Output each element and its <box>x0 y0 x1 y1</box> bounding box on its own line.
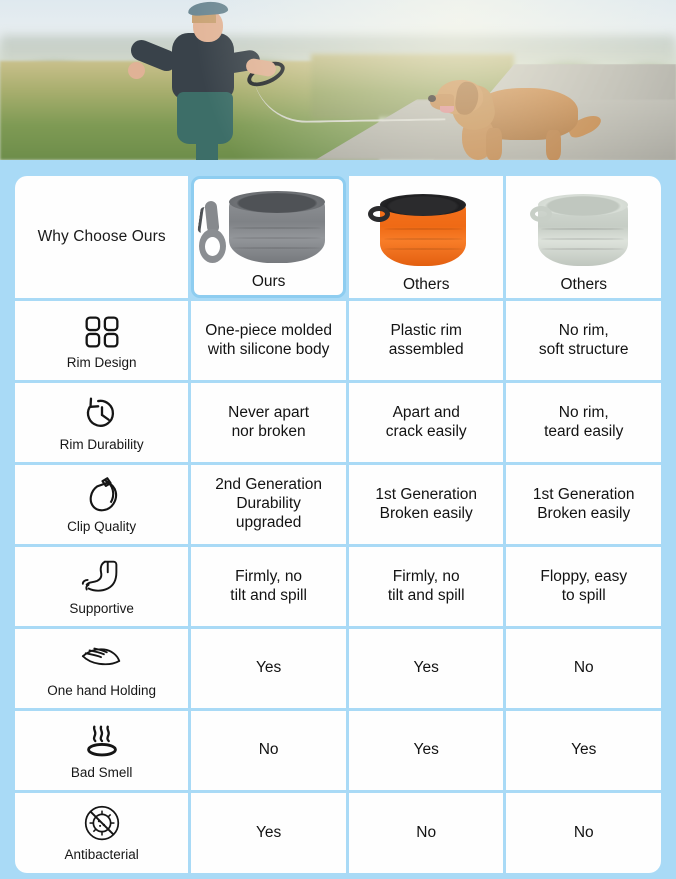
table-header-row: Why Choose Ours <box>15 176 661 298</box>
value-text: Yes <box>194 824 343 843</box>
feature-label: One hand Holding <box>47 683 156 698</box>
value-text: No rim,soft structure <box>509 322 658 360</box>
value-ours: No <box>191 711 346 790</box>
feature-label: Rim Design <box>67 355 137 370</box>
value-text: Plastic rimassembled <box>352 322 501 360</box>
value-other-2: Yes <box>506 711 661 790</box>
value-text: 2nd GenerationDurabilityupgraded <box>194 476 343 533</box>
orange-collapsible-bowl-icon <box>360 194 492 274</box>
bowl-grey <box>229 197 325 263</box>
value-other-2: Floppy, easyto spill <box>506 547 661 626</box>
value-text: Yes <box>352 741 501 760</box>
header-column-other-2: Others <box>506 176 661 298</box>
value-other-1: Firmly, notilt and spill <box>349 547 504 626</box>
white-collapsible-bowl-icon <box>518 194 650 274</box>
feature-cell-supportive: Supportive <box>15 547 188 626</box>
value-ours: One-piece moldedwith silicone body <box>191 301 346 380</box>
clock-history-icon <box>79 394 125 434</box>
value-other-2: No rim,soft structure <box>506 301 661 380</box>
feature-label: Rim Durability <box>60 437 144 452</box>
dog-front-leg <box>486 128 502 160</box>
value-text: Apart andcrack easily <box>352 404 501 442</box>
table-row: Clip Quality 2nd GenerationDurabilityupg… <box>15 465 661 544</box>
value-other-1: Yes <box>349 629 504 708</box>
value-text: 1st GenerationBroken easily <box>509 486 658 524</box>
feature-cell-rim-design: Rim Design <box>15 301 188 380</box>
value-text: One-piece moldedwith silicone body <box>194 322 343 360</box>
value-other-1: Apart andcrack easily <box>349 383 504 462</box>
product-other-1: Others <box>352 180 501 294</box>
value-text: No rim,teard easily <box>509 404 658 442</box>
feature-cell-antibacterial: Antibacterial <box>15 793 188 873</box>
value-ours: 2nd GenerationDurabilityupgraded <box>191 465 346 544</box>
dog-nose <box>428 95 436 102</box>
value-other-1: 1st GenerationBroken easily <box>349 465 504 544</box>
bowl-ear <box>368 206 390 222</box>
table-row: Bad Smell No Yes Yes <box>15 711 661 790</box>
value-text: No <box>352 824 501 843</box>
bowl-rim <box>380 194 466 216</box>
bowl-white <box>538 200 628 266</box>
value-ours: Firmly, notilt and spill <box>191 547 346 626</box>
value-other-1: Yes <box>349 711 504 790</box>
bowl-rim <box>229 191 325 213</box>
value-other-1: Plastic rimassembled <box>349 301 504 380</box>
comparison-table-wrapper: Why Choose Ours <box>12 173 664 876</box>
dog-tongue <box>440 106 454 113</box>
boy-leg <box>196 138 218 160</box>
product-other-2: Others <box>509 180 658 294</box>
open-palm-hand-icon <box>79 640 125 680</box>
feature-label: Clip Quality <box>67 519 136 534</box>
grey-collapsible-bowl-with-clip-icon <box>203 191 335 271</box>
feature-label: Bad Smell <box>71 765 133 780</box>
value-text: Never apartnor broken <box>194 404 343 442</box>
feature-label: Supportive <box>69 601 134 616</box>
dog-back-leg <box>546 130 561 160</box>
page-title: Why Choose Ours <box>18 228 185 246</box>
feature-label: Antibacterial <box>64 847 138 862</box>
value-ours: Never apartnor broken <box>191 383 346 462</box>
value-text: Yes <box>509 741 658 760</box>
value-text: Firmly, notilt and spill <box>352 568 501 606</box>
four-squares-grid-icon <box>79 312 125 352</box>
steam-odor-icon <box>79 722 125 762</box>
value-other-2: No rim,teard easily <box>506 383 661 462</box>
value-other-2: No <box>506 629 661 708</box>
table-row: Antibacterial Yes No No <box>15 793 661 873</box>
feature-cell-one-hand-holding: One hand Holding <box>15 629 188 708</box>
value-text: No <box>509 659 658 678</box>
header-column-other-1: Others <box>349 176 504 298</box>
boy-shorts <box>177 92 233 144</box>
column-label-other-1: Others <box>403 276 450 294</box>
value-other-1: No <box>349 793 504 873</box>
value-text: Floppy, easyto spill <box>509 568 658 606</box>
value-ours: Yes <box>191 629 346 708</box>
value-text: No <box>194 741 343 760</box>
header-feature-cell: Why Choose Ours <box>15 176 188 298</box>
value-text: Firmly, notilt and spill <box>194 568 343 606</box>
product-ours: Ours <box>197 183 340 291</box>
table-row: One hand Holding Yes Yes No <box>15 629 661 708</box>
flexed-bicep-icon <box>79 558 125 598</box>
no-germs-icon <box>79 804 125 844</box>
boy-left-hand <box>128 62 145 79</box>
value-other-2: No <box>506 793 661 873</box>
feature-cell-rim-durability: Rim Durability <box>15 383 188 462</box>
carabiner-clip-icon <box>197 201 227 263</box>
table-row: Supportive Firmly, notilt and spill Firm… <box>15 547 661 626</box>
hero-photo <box>0 0 676 160</box>
comparison-table: Why Choose Ours <box>12 173 664 876</box>
value-text: No <box>509 824 658 843</box>
header-column-ours: Ours <box>191 176 346 298</box>
value-text: 1st GenerationBroken easily <box>352 486 501 524</box>
bowl-orange <box>380 200 466 266</box>
value-text: Yes <box>352 659 501 678</box>
feature-cell-clip-quality: Clip Quality <box>15 465 188 544</box>
column-label-ours: Ours <box>252 273 286 291</box>
carabiner-clip-icon <box>79 476 125 516</box>
table-row: Rim Durability Never apartnor broken Apa… <box>15 383 661 462</box>
column-label-other-2: Others <box>560 276 607 294</box>
bowl-ear <box>530 206 552 222</box>
feature-cell-bad-smell: Bad Smell <box>15 711 188 790</box>
value-other-2: 1st GenerationBroken easily <box>506 465 661 544</box>
table-row: Rim Design One-piece moldedwith silicone… <box>15 301 661 380</box>
value-ours: Yes <box>191 793 346 873</box>
value-text: Yes <box>194 659 343 678</box>
